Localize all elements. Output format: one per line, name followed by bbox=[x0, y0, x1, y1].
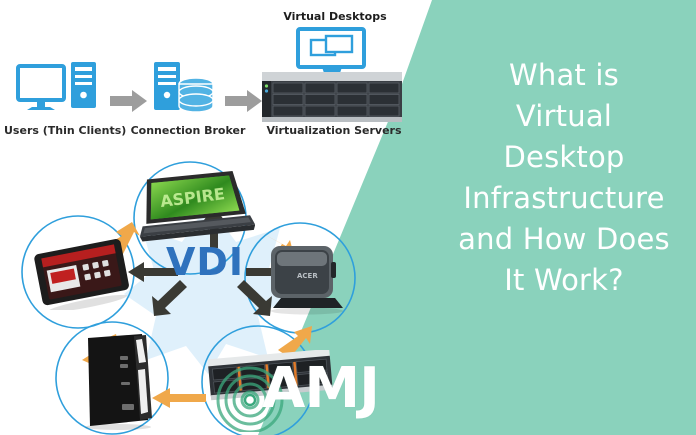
device-desktop-tower bbox=[76, 332, 160, 430]
hero-image-canvas: Users (Thin Clients) Connection Broker bbox=[0, 0, 696, 435]
amj-watermark: AMJ bbox=[262, 356, 379, 421]
flow-node-label-users: Users (Thin Clients) bbox=[4, 124, 114, 137]
device-mini-pc: ACER bbox=[257, 238, 353, 320]
wifi-hub-center bbox=[245, 395, 255, 405]
flow-node-label-broker: Connection Broker bbox=[128, 124, 248, 137]
device-laptop: ASPIRE bbox=[133, 170, 255, 250]
headline-line-6: It Work? bbox=[432, 260, 696, 301]
device-tablet bbox=[34, 238, 130, 310]
arrow-right-icon bbox=[110, 90, 148, 112]
headline-line-5: and How Does bbox=[432, 219, 696, 260]
virtual-desktops-monitor-icon bbox=[295, 27, 369, 77]
vdi-flow-diagram: Users (Thin Clients) Connection Broker bbox=[0, 0, 420, 150]
page-title: What is Virtual Desktop Infrastructure a… bbox=[432, 55, 696, 301]
virtual-desktops-label: Virtual Desktops bbox=[280, 10, 390, 23]
rack-server-icon bbox=[262, 72, 402, 122]
arrow-right-icon bbox=[225, 90, 263, 112]
headline-line-3: Desktop bbox=[432, 137, 696, 178]
headline-line-2: Virtual bbox=[432, 96, 696, 137]
headline-line-1: What is bbox=[432, 55, 696, 96]
headline-line-4: Infrastructure bbox=[432, 178, 696, 219]
flow-node-label-servers: Virtualization Servers bbox=[265, 124, 403, 137]
mini-pc-brand-text: ACER bbox=[297, 272, 318, 280]
vdi-center-label: VDI bbox=[150, 240, 260, 284]
server-database-icon bbox=[152, 62, 222, 122]
monitor-tower-icon bbox=[14, 62, 114, 122]
